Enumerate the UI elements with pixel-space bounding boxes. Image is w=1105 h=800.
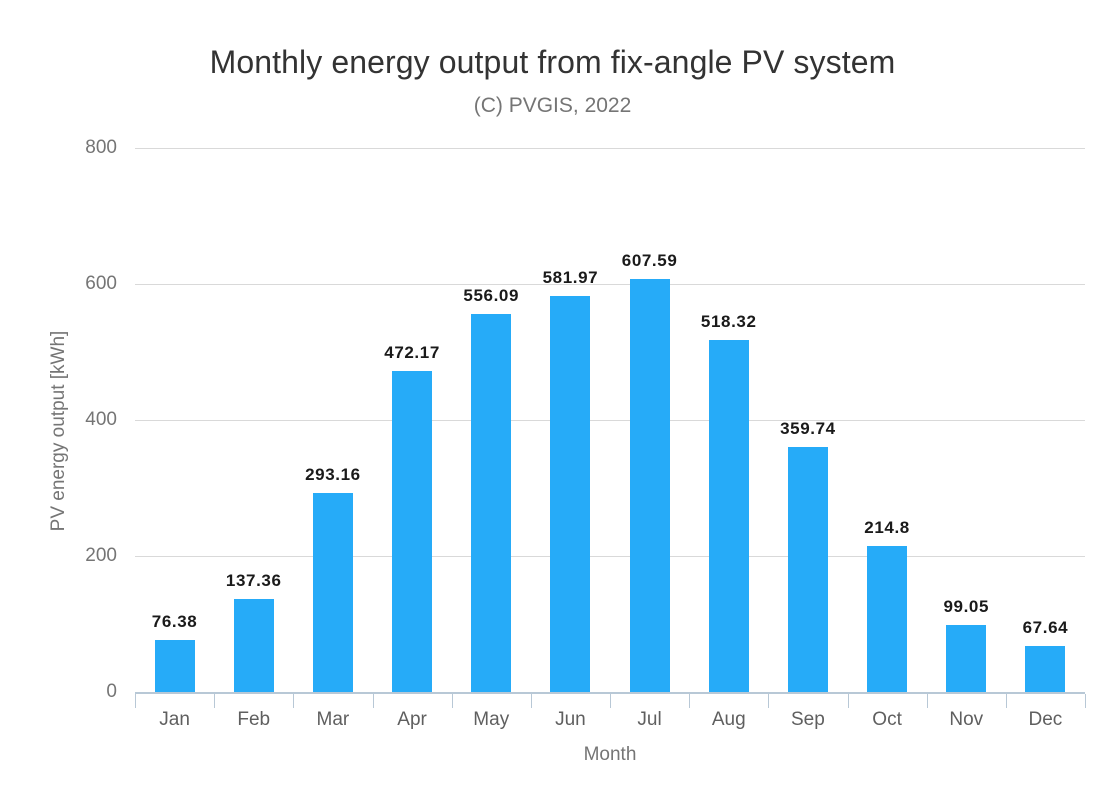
y-axis-tick-label: 600: [7, 273, 117, 295]
bar[interactable]: [1025, 646, 1065, 692]
bar-slot[interactable]: 214.8: [848, 148, 927, 692]
x-axis-tick-separator: [1085, 694, 1086, 708]
x-axis-tick-separator: [452, 694, 453, 708]
x-axis-tick-separator: [689, 694, 690, 708]
chart-title: Monthly energy output from fix-angle PV …: [0, 44, 1105, 81]
bar-value-label: 137.36: [226, 571, 282, 591]
x-axis-tick-separator: [293, 694, 294, 708]
bar-value-label: 359.74: [780, 419, 836, 439]
x-axis-tick-separator: [373, 694, 374, 708]
x-axis-tick-separator: [214, 694, 215, 708]
bar[interactable]: [946, 625, 986, 692]
x-axis-tick-label: Apr: [397, 709, 427, 731]
x-axis-tick-separator: [1006, 694, 1007, 708]
bar[interactable]: [709, 340, 749, 692]
bar-value-label: 293.16: [305, 465, 361, 485]
x-axis-tick-label: Sep: [791, 709, 825, 731]
bar[interactable]: [234, 599, 274, 692]
bar-slot[interactable]: 293.16: [293, 148, 372, 692]
bar-slot[interactable]: 472.17: [373, 148, 452, 692]
x-axis-tick-separator: [531, 694, 532, 708]
x-axis-tick-separator: [927, 694, 928, 708]
x-axis-tick-label: Mar: [317, 709, 350, 731]
bar-slot[interactable]: 99.05: [927, 148, 1006, 692]
bar-slot[interactable]: 76.38: [135, 148, 214, 692]
plot-area: 76.38137.36293.16472.17556.09581.97607.5…: [135, 148, 1085, 692]
bar-value-label: 518.32: [701, 312, 757, 332]
bar[interactable]: [313, 493, 353, 692]
x-axis-tick-separator: [135, 694, 136, 708]
x-axis-title: Month: [135, 744, 1085, 766]
bar-value-label: 99.05: [943, 597, 989, 617]
bar-slot[interactable]: 67.64: [1006, 148, 1085, 692]
x-axis-tick-separator: [768, 694, 769, 708]
bar-value-label: 472.17: [384, 343, 440, 363]
x-axis-tick-label: Aug: [712, 709, 746, 731]
bar[interactable]: [630, 279, 670, 692]
bar-slot[interactable]: 137.36: [214, 148, 293, 692]
bar-slot[interactable]: 359.74: [768, 148, 847, 692]
y-axis-tick-label: 800: [7, 137, 117, 159]
bar-value-label: 581.97: [543, 268, 599, 288]
bar[interactable]: [550, 296, 590, 692]
y-axis-tick-label: 200: [7, 545, 117, 567]
bar-value-label: 214.8: [864, 518, 910, 538]
x-axis-tick-separator: [610, 694, 611, 708]
bar[interactable]: [471, 314, 511, 692]
bar[interactable]: [867, 546, 907, 692]
x-axis-tick-label: Jan: [159, 709, 190, 731]
bar-slot[interactable]: 607.59: [610, 148, 689, 692]
x-axis-tick-separator: [848, 694, 849, 708]
x-axis-tick-label: Jul: [637, 709, 661, 731]
chart-subtitle: (C) PVGIS, 2022: [0, 94, 1105, 118]
bar-value-label: 556.09: [463, 286, 519, 306]
x-axis-tick-label: Oct: [872, 709, 902, 731]
bar-slot[interactable]: 581.97: [531, 148, 610, 692]
y-axis-tick-label: 0: [7, 681, 117, 703]
bar-value-label: 607.59: [622, 251, 678, 271]
y-axis-tick-label: 400: [7, 409, 117, 431]
bar[interactable]: [155, 640, 195, 692]
bar-value-label: 76.38: [152, 612, 198, 632]
x-axis-tick-label: Feb: [237, 709, 270, 731]
x-axis-tick-label: Jun: [555, 709, 586, 731]
bar-value-label: 67.64: [1023, 618, 1069, 638]
bar[interactable]: [788, 447, 828, 692]
x-axis-tick-label: Dec: [1029, 709, 1063, 731]
bar-slot[interactable]: 518.32: [689, 148, 768, 692]
bar-chart: Monthly energy output from fix-angle PV …: [0, 0, 1105, 800]
bar-slot[interactable]: 556.09: [452, 148, 531, 692]
x-axis-tick-label: Nov: [949, 709, 983, 731]
y-axis-title: PV energy output [kWh]: [48, 306, 70, 556]
bar[interactable]: [392, 371, 432, 692]
x-axis-tick-label: May: [473, 709, 509, 731]
